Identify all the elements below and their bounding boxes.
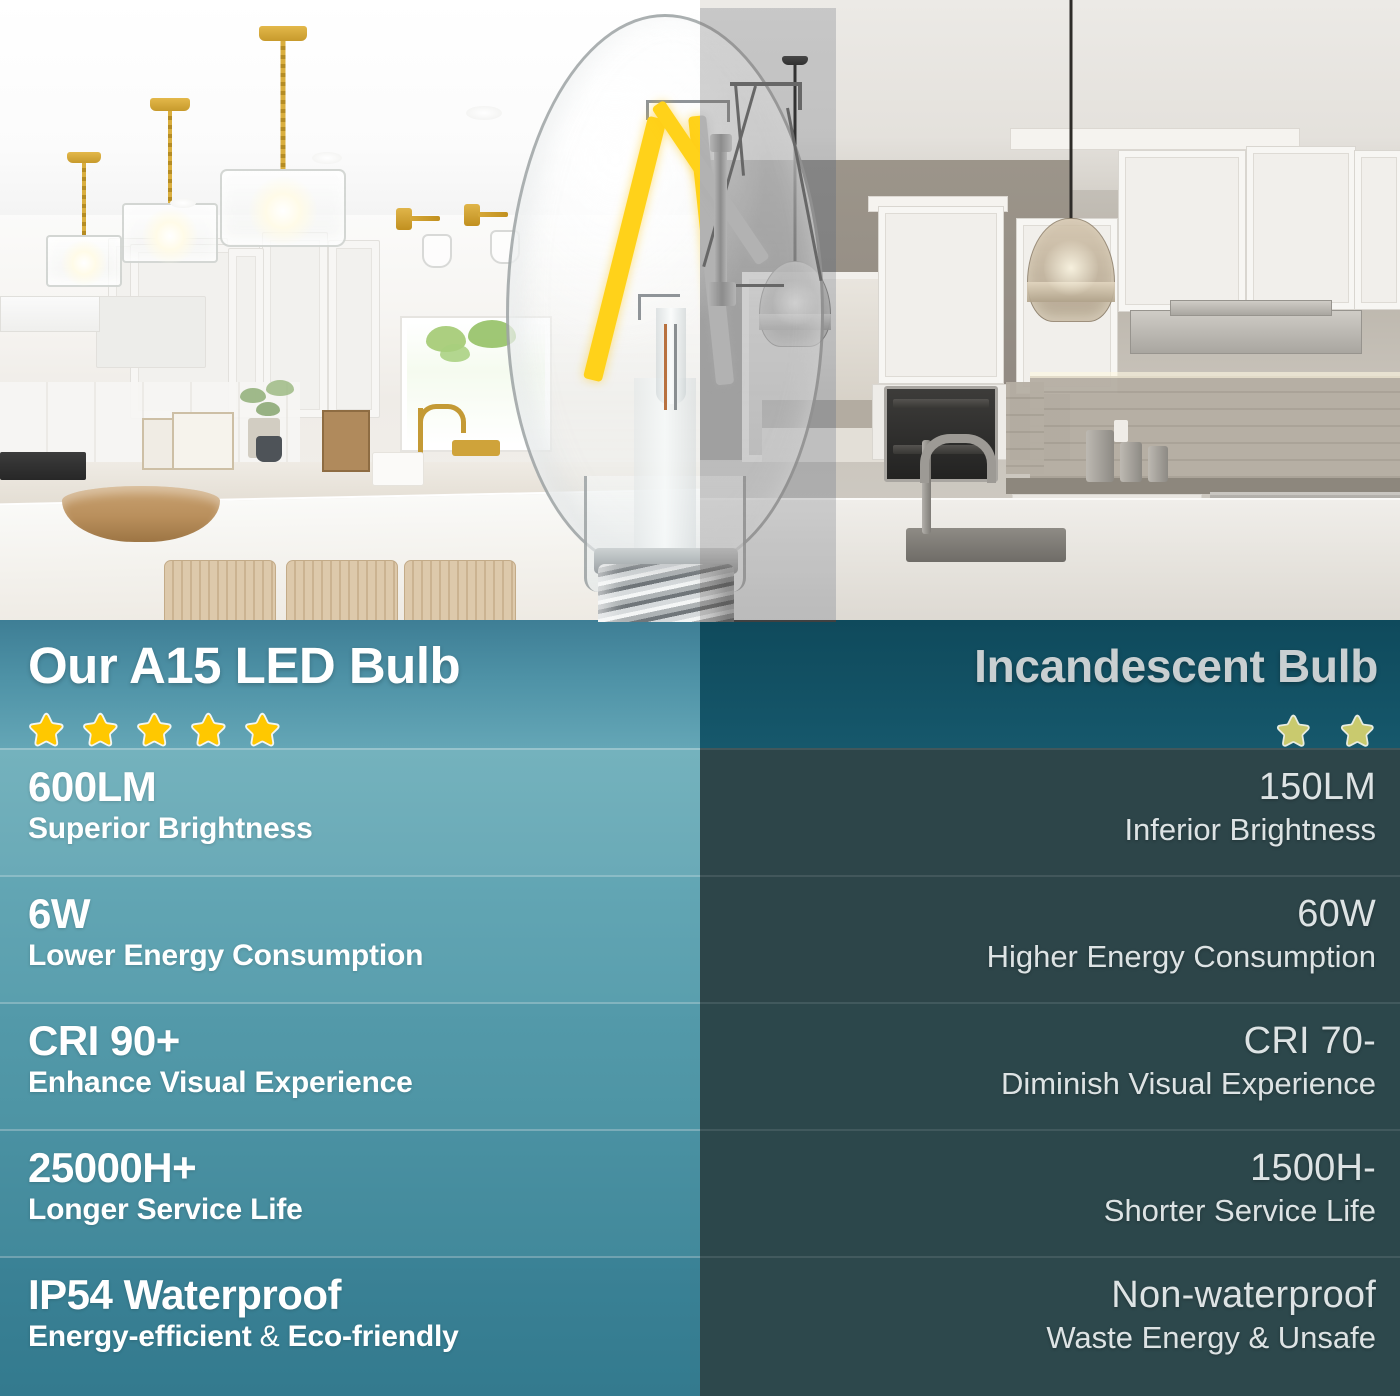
- comparison-table: 600LM Superior Brightness 150LM Inferior…: [0, 748, 1400, 1400]
- photo-band: [0, 0, 1400, 622]
- led-description: Energy-efficient & Eco-friendly: [28, 1319, 670, 1356]
- table-row: IP54 Waterproof Energy-efficient & Eco-f…: [0, 1256, 1400, 1396]
- led-description: Superior Brightness: [28, 811, 670, 848]
- left-star-rating: [26, 711, 282, 751]
- star-icon: [242, 711, 282, 751]
- incandescent-cell-brightness: 150LM Inferior Brightness: [700, 748, 1400, 875]
- led-cell-lifespan: 25000H+ Longer Service Life: [0, 1129, 700, 1256]
- led-value: 600LM: [28, 766, 670, 809]
- right-product-title: Incandescent Bulb: [974, 639, 1378, 693]
- incandescent-description: Inferior Brightness: [730, 811, 1376, 849]
- table-row: 25000H+ Longer Service Life 1500H- Short…: [0, 1129, 1400, 1256]
- led-value: 25000H+: [28, 1147, 670, 1190]
- ampersand: &: [252, 1320, 288, 1353]
- incandescent-cell-wattage: 60W Higher Energy Consumption: [700, 875, 1400, 1002]
- led-cell-wattage: 6W Lower Energy Consumption: [0, 875, 700, 1002]
- led-desc-part2: Eco-friendly: [288, 1320, 459, 1353]
- incandescent-cell-lifespan: 1500H- Shorter Service Life: [700, 1129, 1400, 1256]
- led-cell-brightness: 600LM Superior Brightness: [0, 748, 700, 875]
- incandescent-value: 150LM: [730, 768, 1376, 807]
- led-description: Enhance Visual Experience: [28, 1065, 670, 1102]
- right-star-rating: [1274, 713, 1376, 751]
- star-icon: [80, 711, 120, 751]
- led-value: CRI 90+: [28, 1020, 670, 1063]
- led-value: IP54 Waterproof: [28, 1274, 670, 1317]
- star-icon: [134, 711, 174, 751]
- ampersand: &: [1240, 1320, 1278, 1355]
- brass-pendant-light: [44, 152, 124, 312]
- left-product-title: Our A15 LED Bulb: [28, 636, 460, 695]
- brass-pendant-light: [216, 26, 350, 258]
- table-row: CRI 90+ Enhance Visual Experience CRI 70…: [0, 1002, 1400, 1129]
- star-icon: [1338, 713, 1376, 751]
- incandescent-value: 60W: [730, 895, 1376, 934]
- incandescent-cell-waterproof: Non-waterproof Waste Energy & Unsafe: [700, 1256, 1400, 1396]
- header-band: Our A15 LED Bulb Incandescent Bulb: [0, 620, 1400, 748]
- incandescent-description: Higher Energy Consumption: [730, 938, 1376, 976]
- product-comparison-infographic: Our A15 LED Bulb Incandescent Bulb: [0, 0, 1400, 1400]
- incandescent-desc-part2: Unsafe: [1278, 1320, 1376, 1355]
- incandescent-value: 1500H-: [730, 1149, 1376, 1188]
- incandescent-description: Diminish Visual Experience: [730, 1065, 1376, 1103]
- incandescent-value: Non-waterproof: [730, 1276, 1376, 1315]
- led-cell-waterproof: IP54 Waterproof Energy-efficient & Eco-f…: [0, 1256, 700, 1396]
- star-icon: [26, 711, 66, 751]
- led-description: Longer Service Life: [28, 1192, 670, 1229]
- table-row: 600LM Superior Brightness 150LM Inferior…: [0, 748, 1400, 875]
- led-desc-part1: Energy-efficient: [28, 1320, 252, 1353]
- incandescent-cell-cri: CRI 70- Diminish Visual Experience: [700, 1002, 1400, 1129]
- led-value: 6W: [28, 893, 670, 936]
- star-icon: [1274, 713, 1312, 751]
- incandescent-description: Waste Energy & Unsafe: [730, 1319, 1376, 1357]
- incandescent-description: Shorter Service Life: [730, 1192, 1376, 1230]
- incandescent-value: CRI 70-: [730, 1022, 1376, 1061]
- brass-pendant-light: [118, 98, 222, 294]
- incandescent-desc-part1: Waste Energy: [1046, 1320, 1240, 1355]
- table-row: 6W Lower Energy Consumption 60W Higher E…: [0, 875, 1400, 1002]
- split-bulb-image: [498, 8, 836, 622]
- star-icon: [188, 711, 228, 751]
- bronze-pendant-light: [1016, 0, 1126, 294]
- led-cell-cri: CRI 90+ Enhance Visual Experience: [0, 1002, 700, 1129]
- led-description: Lower Energy Consumption: [28, 938, 670, 975]
